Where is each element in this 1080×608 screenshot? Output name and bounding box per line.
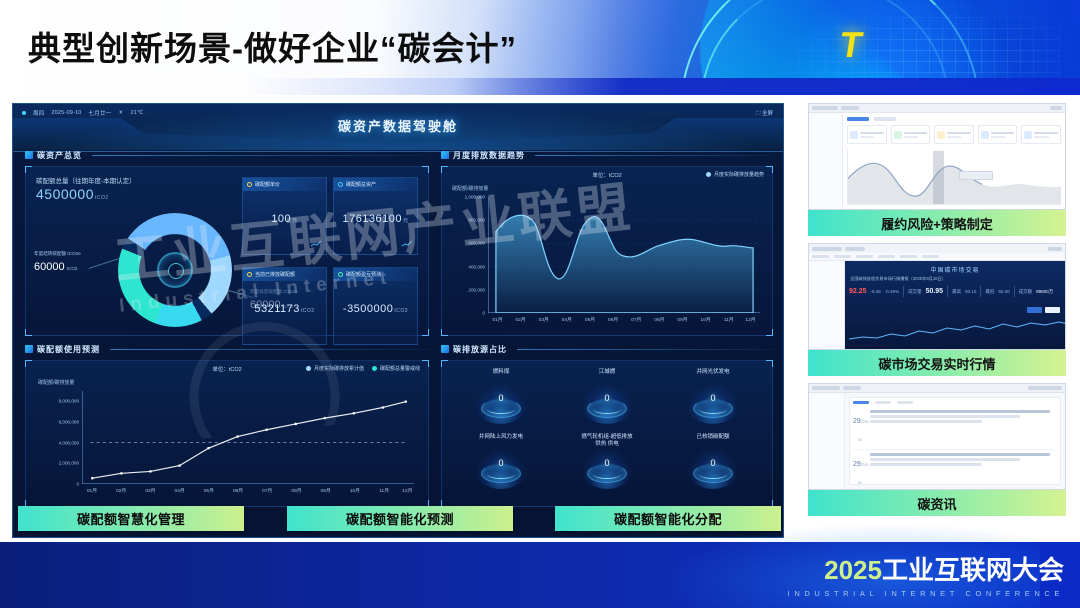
app-body: 292025-08 292025-08 282025-08 — [809, 393, 1065, 489]
x-tick: 03月 — [145, 487, 155, 494]
stat-text — [1034, 132, 1058, 138]
kpi-header: 碳配额总资产 — [334, 178, 417, 191]
kpi-header: 碳配额单价 — [243, 178, 326, 191]
news-tab[interactable] — [853, 401, 869, 404]
footer-bar: 2025工业互联网大会 INDUSTRIAL INTERNET CONFEREN… — [0, 542, 1080, 608]
kpi-value: 176136100元 — [334, 213, 417, 225]
logo-name-en: INDUSTRIAL INTERNET CONFERENCE — [788, 589, 1064, 598]
gauge-label: 并网陆上风力发电 — [479, 434, 523, 448]
total-value: 89600万 — [1036, 289, 1053, 295]
browser-tab[interactable] — [812, 106, 838, 110]
screenshot-carbon-news: 292025-08 292025-08 282025-08 — [808, 383, 1066, 490]
quota-total-number: 4500000 — [36, 186, 94, 202]
corner-icon — [422, 329, 429, 336]
mini-chart — [847, 149, 1061, 205]
kpi-number: -3500000 — [343, 303, 394, 315]
corner-icon — [25, 166, 32, 173]
y-tick: 6,000,000 — [59, 419, 79, 424]
page-title: 典型创新场景-做好企业“碳会计” — [28, 22, 517, 70]
x-tick: 11月 — [379, 487, 389, 494]
chart-unit-label: 单位：tCO2 — [212, 365, 241, 373]
donut-leader-left — [89, 258, 120, 269]
kpi-badge-icon — [247, 182, 252, 187]
panel-header: 碳资产总览 — [25, 148, 429, 162]
corner-icon — [422, 166, 429, 173]
gauge-item[interactable]: 燃气轮机组-超低排放 供热 供电 0 — [554, 434, 660, 499]
gauge-bowl-icon: 0 — [581, 384, 633, 424]
x-tick: 06月 — [608, 316, 618, 323]
chart-tooltip — [959, 171, 993, 180]
gauge-value: 0 — [687, 393, 739, 403]
gauge-bowl-icon: 0 — [687, 384, 739, 424]
x-tick: 12月 — [402, 487, 412, 494]
chart-meta: 单位：tCO2 月度实际碳排放累计值 碳配额总量警戒线 — [26, 365, 428, 377]
news-tab[interactable] — [875, 401, 891, 404]
stat-text — [947, 132, 971, 138]
gauge-bowl-icon: 0 — [475, 449, 527, 489]
y-tick: 8,000,000 — [59, 399, 79, 404]
quota-total-label: 碳配额总量（往期年度-本期认定） — [36, 175, 136, 185]
stat-card[interactable] — [978, 125, 1018, 144]
kpi-card-quota-balance[interactable]: 碳配额盈亏预测 -3500000tCO2 — [333, 267, 418, 345]
legend-swatch-icon — [706, 172, 711, 177]
nav-tab[interactable] — [922, 255, 939, 258]
panel-icon — [25, 151, 33, 159]
caption-carbon-news: 碳资讯 — [808, 490, 1066, 516]
slide-root: T 典型创新场景-做好企业“碳会计” 周四 2025-09-10 七月廿一 ☀ … — [0, 0, 1080, 608]
legend-item: 月度实际碳排放量趋势 — [706, 171, 764, 178]
app-body: 中国碳市场交易 全国碳排放权交易市场行情播报（2025年9月10日） 92.25… — [809, 261, 1065, 349]
banner-t-logo-icon: T — [837, 28, 889, 64]
stat-text — [904, 132, 928, 138]
stat-icon — [981, 131, 989, 139]
y-tick: 800,000 — [468, 218, 485, 223]
buy-button[interactable] — [1027, 307, 1042, 313]
y-tick: 400,000 — [468, 264, 485, 269]
total-label: 成交额 — [1019, 289, 1033, 295]
gauge-label: 燃气轮机组-超低排放 供热 供电 — [581, 434, 632, 448]
browser-tab[interactable] — [845, 247, 865, 251]
quote-percent: -0.49% — [885, 289, 899, 294]
x-tick: 02月 — [116, 487, 126, 494]
browser-chrome — [809, 384, 1065, 393]
trading-sparkline — [849, 317, 1066, 343]
panel-rule — [517, 349, 773, 350]
kpi-unit: 元 — [292, 218, 298, 224]
banner-underbar — [0, 78, 1080, 95]
legend-item: 月度实际碳排放累计值 — [306, 365, 364, 372]
news-list-item[interactable]: 292025-08 — [853, 407, 1057, 450]
news-date: 292025-08 — [853, 453, 866, 489]
kpi-number: 176136100 — [342, 213, 402, 225]
tab[interactable] — [847, 117, 869, 121]
panel-title: 碳配额使用预测 — [37, 344, 100, 355]
x-tick: 07月 — [631, 316, 641, 323]
high-label: 最高 — [952, 289, 961, 295]
divider — [1014, 286, 1015, 297]
gauge-item[interactable]: 江城燃 0 — [554, 369, 660, 434]
kpi-number: 5321173 — [254, 303, 300, 315]
gauge-label: 已核销碳配额 — [696, 434, 729, 448]
legend-item: 碳配额总量警戒线 — [372, 365, 420, 372]
kpi-label: 当前已排放碳配额 — [255, 271, 295, 278]
chart-meta: 单位：tCO2 月度实际碳排放量趋势 — [442, 171, 772, 183]
nav-tab-bar[interactable] — [809, 253, 1065, 261]
legend-label: 月度实际碳排放累计值 — [314, 365, 364, 372]
browser-chrome — [809, 104, 1065, 113]
trading-title: 中国碳市场交易 — [845, 261, 1065, 274]
browser-tab[interactable] — [841, 106, 859, 110]
quote-price: 92.25 — [849, 288, 867, 295]
kpi-sparkline-icon — [402, 240, 412, 247]
browser-address-bar[interactable] — [1028, 386, 1062, 390]
chart-legend[interactable]: 月度实际碳排放量趋势 — [706, 171, 764, 178]
stat-card[interactable] — [1021, 125, 1061, 144]
browser-tab[interactable] — [812, 386, 840, 390]
browser-tab[interactable] — [843, 386, 861, 390]
corner-icon — [766, 360, 773, 367]
panel-rule — [92, 155, 429, 156]
donut-core — [157, 252, 193, 288]
nav-tab[interactable] — [900, 255, 917, 258]
logo-name-cn: 工业互联网大会 — [882, 555, 1064, 585]
panel-carbon-overview: 碳资产总览 碳配额总量（往期年度-本期认定） 4500000tCO2 — [25, 148, 429, 336]
caption-carbon-market: 碳市场交易实时行情 — [808, 350, 1066, 376]
y-tick: 4,000,000 — [59, 440, 79, 445]
app-sidebar[interactable] — [809, 261, 845, 349]
panel-title: 月度排放数据趋势 — [453, 150, 525, 161]
kpi-value: 100元 — [243, 213, 326, 225]
corner-icon — [441, 360, 448, 367]
x-tick: 01月 — [492, 316, 502, 323]
logo-main-text: 2025工业互联网大会 — [788, 550, 1064, 587]
y-axis-name: 碳配额/碳排放量 — [38, 379, 74, 386]
legend-label: 碳配额总量警戒线 — [380, 365, 420, 372]
x-tick: 06月 — [233, 487, 243, 494]
x-tick: 08月 — [654, 316, 664, 323]
kpi-card-emitted-quota[interactable]: 当前已排放碳配额 5321173tCO2 — [242, 267, 327, 345]
x-tick: 03月 — [539, 316, 549, 323]
trading-button-group[interactable] — [1027, 307, 1060, 313]
dashboard-title: 碳资产数据驾驶舱 — [13, 116, 783, 135]
panel-rule — [110, 349, 429, 350]
right-card-carbon-news: 292025-08 292025-08 282025-08 — [808, 383, 1066, 516]
app-body — [809, 113, 1065, 209]
kpi-label: 碳配额总资产 — [346, 181, 376, 188]
low-value: 92.00 — [998, 289, 1009, 294]
news-tab-bar[interactable] — [853, 401, 1057, 404]
trading-headline: 全国碳排放权交易市场行情播报（2025年9月10日） — [845, 274, 1065, 282]
browser-chrome — [809, 244, 1065, 253]
screenshot-compliance-risk — [808, 103, 1066, 210]
stat-card[interactable] — [847, 125, 887, 144]
divider — [947, 286, 948, 297]
nav-tab[interactable] — [812, 255, 829, 258]
news-text — [870, 453, 1057, 489]
x-tick: 10月 — [350, 487, 360, 494]
trading-quote-row: 92.25 -0.45 -0.49% 成交量 50.95 最高 93.10 最低… — [845, 282, 1065, 297]
quota-forecast-chart: 0 2,000,000 4,000,000 6,000,000 8,000,00… — [82, 391, 414, 484]
divider — [903, 286, 904, 297]
tab-bar[interactable] — [847, 117, 1061, 121]
quota-total-unit: tCO2 — [95, 195, 109, 201]
news-text — [870, 410, 1057, 446]
x-tick: 08月 — [291, 487, 301, 494]
app-sidebar[interactable] — [809, 393, 845, 489]
carbon-quota-donut-chart — [118, 213, 232, 327]
legend-swatch-icon — [372, 366, 377, 371]
y-tick: 0 — [482, 311, 485, 316]
kpi-header: 碳配额盈亏预测 — [334, 268, 417, 281]
panel-body: 单位：tCO2 月度实际碳排放量趋势 碳配额/碳排放量 0 200,000 40… — [441, 166, 773, 336]
panel-header: 碳排放源占比 — [441, 342, 773, 356]
logo-year: 2025 — [824, 555, 882, 585]
stat-card-row — [847, 125, 1061, 144]
conference-logo: 2025工业互联网大会 INDUSTRIAL INTERNET CONFEREN… — [788, 550, 1064, 598]
x-tick: 04月 — [175, 487, 185, 494]
stat-text — [991, 132, 1015, 138]
gauge-item[interactable]: 并网陆上风力发电 0 — [448, 434, 554, 499]
donut-left-label: 年度结转碳配额 tCO2e — [34, 251, 81, 257]
gauge-item[interactable]: 并网光伏发电 0 — [660, 369, 766, 434]
right-column: 履约风险+策略制定 — [808, 103, 1066, 523]
app-main: 292025-08 292025-08 282025-08 — [845, 393, 1065, 489]
corner-icon — [441, 329, 448, 336]
volume-label: 成交量 — [908, 289, 922, 295]
stat-icon — [937, 131, 945, 139]
kpi-card-quota-price[interactable]: 碳配额单价 100元 — [242, 177, 327, 255]
kpi-number: 100 — [271, 213, 291, 225]
emission-source-gauges: 燃料煤 0 江城燃 0 并网光伏发电 0 并网陆上风力发电 0 — [448, 369, 766, 498]
kpi-header: 当前已排放碳配额 — [243, 268, 326, 281]
nav-tab[interactable] — [856, 255, 873, 258]
y-tick: 2,000,000 — [59, 461, 79, 466]
stat-icon — [850, 131, 858, 139]
x-tick: 11月 — [724, 316, 734, 323]
panel-header: 碳配额使用预测 — [25, 342, 429, 356]
x-tick: 09月 — [321, 487, 331, 494]
x-tick: 09月 — [677, 316, 687, 323]
y-tick: 0 — [76, 482, 79, 487]
news-tab[interactable] — [897, 401, 913, 404]
chart-legend[interactable]: 月度实际碳排放累计值 碳配额总量警戒线 — [306, 365, 420, 372]
gauge-bowl-icon: 0 — [687, 449, 739, 489]
y-axis-name: 碳配额/碳排放量 — [452, 185, 488, 192]
kpi-value: -3500000tCO2 — [334, 303, 417, 315]
gauge-value: 0 — [475, 393, 527, 403]
right-card-compliance-risk: 履约风险+策略制定 — [808, 103, 1066, 236]
gauge-value: 0 — [687, 458, 739, 468]
monthly-emission-gridlines — [488, 197, 760, 313]
kpi-badge-icon — [247, 272, 252, 277]
trading-board: 中国碳市场交易 全国碳排放权交易市场行情播报（2025年9月10日） 92.25… — [845, 261, 1065, 349]
kpi-label: 碳配额盈亏预测 — [346, 271, 381, 278]
nav-tab[interactable] — [878, 255, 895, 258]
y-tick: 1,000,000 — [465, 195, 485, 200]
gauge-label: 燃料煤 — [493, 369, 510, 383]
status-dot-icon — [22, 111, 26, 115]
app-main — [843, 113, 1065, 209]
legend-swatch-icon — [306, 366, 311, 371]
sell-button[interactable] — [1045, 307, 1060, 313]
kpi-unit: tCO2 — [301, 308, 315, 314]
low-label: 最低 — [985, 289, 994, 295]
quota-total-value: 4500000tCO2 — [36, 186, 109, 202]
kpi-card-group: 碳配额单价 100元 碳配额总资产 176136100元 — [242, 177, 418, 345]
x-tick: 10月 — [701, 316, 711, 323]
news-list-item[interactable]: 292025-08 — [853, 450, 1057, 490]
gauge-value: 0 — [581, 458, 633, 468]
panel-title: 碳资产总览 — [37, 150, 82, 161]
divider — [980, 286, 981, 297]
y-tick: 200,000 — [468, 287, 485, 292]
panel-emission-sources: 碳排放源占比 燃料煤 0 江城燃 0 — [441, 342, 773, 507]
panel-header: 月度排放数据趋势 — [441, 148, 773, 162]
panel-icon — [441, 345, 449, 353]
x-tick: 07月 — [262, 487, 272, 494]
right-card-carbon-market: 中国碳市场交易 全国碳排放权交易市场行情播报（2025年9月10日） 92.25… — [808, 243, 1066, 376]
x-tick: 01月 — [87, 487, 97, 494]
stat-text — [860, 132, 884, 138]
y-tick: 600,000 — [468, 241, 485, 246]
carbon-dashboard: 周四 2025-09-10 七月廿一 ☀ 21℃ ⛶ 全屏 碳资产数据驾驶舱 碳… — [12, 103, 784, 538]
slide-banner: T 典型创新场景-做好企业“碳会计” — [0, 0, 1080, 95]
panel-title: 碳排放源占比 — [453, 344, 507, 355]
volume-value: 50.95 — [926, 288, 944, 295]
kpi-badge-icon — [338, 182, 343, 187]
chart-unit-label: 单位：tCO2 — [592, 171, 621, 179]
panel-rule — [535, 155, 773, 156]
gauge-label: 并网光伏发电 — [696, 369, 729, 383]
caption-quota-forecast: 碳配额智能化预测 — [287, 506, 513, 531]
gauge-bowl-icon: 0 — [581, 449, 633, 489]
panel-icon — [441, 151, 449, 159]
kpi-sparkline-icon — [311, 240, 321, 247]
stat-card[interactable] — [891, 125, 931, 144]
gauge-bowl-icon: 0 — [475, 384, 527, 424]
tab[interactable] — [874, 117, 896, 121]
corner-icon — [766, 329, 773, 336]
panel-monthly-emission: 月度排放数据趋势 单位：tCO2 月度实际碳排放量趋势 碳配额/碳排放量 — [441, 148, 773, 336]
browser-tab[interactable] — [812, 247, 842, 251]
x-tick: 12月 — [745, 316, 755, 323]
x-tick: 02月 — [516, 316, 526, 323]
caption-quota-management: 碳配额智慧化管理 — [18, 506, 244, 531]
x-tick: 04月 — [562, 316, 572, 323]
legend-label: 月度实际碳排放量趋势 — [714, 171, 764, 178]
panel-icon — [25, 345, 33, 353]
donut-left-unit: tCO2 — [67, 266, 78, 271]
panel-body: 单位：tCO2 月度实际碳排放累计值 碳配额总量警戒线 碳配额/碳排放量 0 2… — [25, 360, 429, 507]
mini-chart-series — [848, 149, 1061, 204]
monthly-emission-chart: 0 200,000 400,000 600,000 800,000 1,000,… — [488, 197, 760, 313]
app-sidebar[interactable] — [809, 113, 843, 209]
gauge-label: 江城燃 — [599, 369, 616, 383]
kpi-unit: 元 — [403, 218, 409, 224]
browser-controls[interactable] — [1050, 106, 1062, 110]
donut-left-value: 60000 — [34, 261, 65, 273]
kpi-value: 5321173tCO2 — [243, 303, 326, 315]
stat-icon — [1024, 131, 1032, 139]
gauge-value: 0 — [475, 458, 527, 468]
screenshot-carbon-market: 中国碳市场交易 全国碳排放权交易市场行情播报（2025年9月10日） 92.25… — [808, 243, 1066, 350]
kpi-label: 碳配额单价 — [255, 181, 280, 188]
stat-icon — [894, 131, 902, 139]
x-tick: 05月 — [585, 316, 595, 323]
high-value: 93.10 — [965, 289, 976, 294]
caption-compliance-risk: 履约风险+策略制定 — [808, 210, 1066, 236]
panel-body: 碳配额总量（往期年度-本期认定） 4500000tCO2 年度结转碳配额 tCO… — [25, 166, 429, 336]
kpi-unit: tCO2 — [394, 308, 408, 314]
panel-quota-forecast: 碳配额使用预测 单位：tCO2 月度实际碳排放累计值 碳配额总量警戒线 碳配额/… — [25, 342, 429, 507]
quote-change: -0.45 — [871, 289, 881, 294]
stat-card[interactable] — [934, 125, 974, 144]
panel-body: 燃料煤 0 江城燃 0 并网光伏发电 0 并网陆上风力发电 0 — [441, 360, 773, 507]
browser-controls[interactable] — [1048, 247, 1062, 251]
kpi-card-total-asset[interactable]: 碳配额总资产 176136100元 — [333, 177, 418, 255]
gauge-item[interactable]: 燃料煤 0 — [448, 369, 554, 434]
news-list-card: 292025-08 292025-08 282025-08 — [849, 397, 1061, 485]
kpi-badge-icon — [338, 272, 343, 277]
news-date: 292025-08 — [853, 410, 866, 446]
quota-forecast-lines — [82, 391, 414, 484]
gauge-item[interactable]: 已核销碳配额 0 — [660, 434, 766, 499]
gauge-value: 0 — [581, 393, 633, 403]
x-tick: 05月 — [204, 487, 214, 494]
corner-icon — [25, 329, 32, 336]
nav-tab[interactable] — [834, 255, 851, 258]
donut-left-callout: 年度结转碳配额 tCO2e 60000tCO2 — [34, 251, 81, 275]
